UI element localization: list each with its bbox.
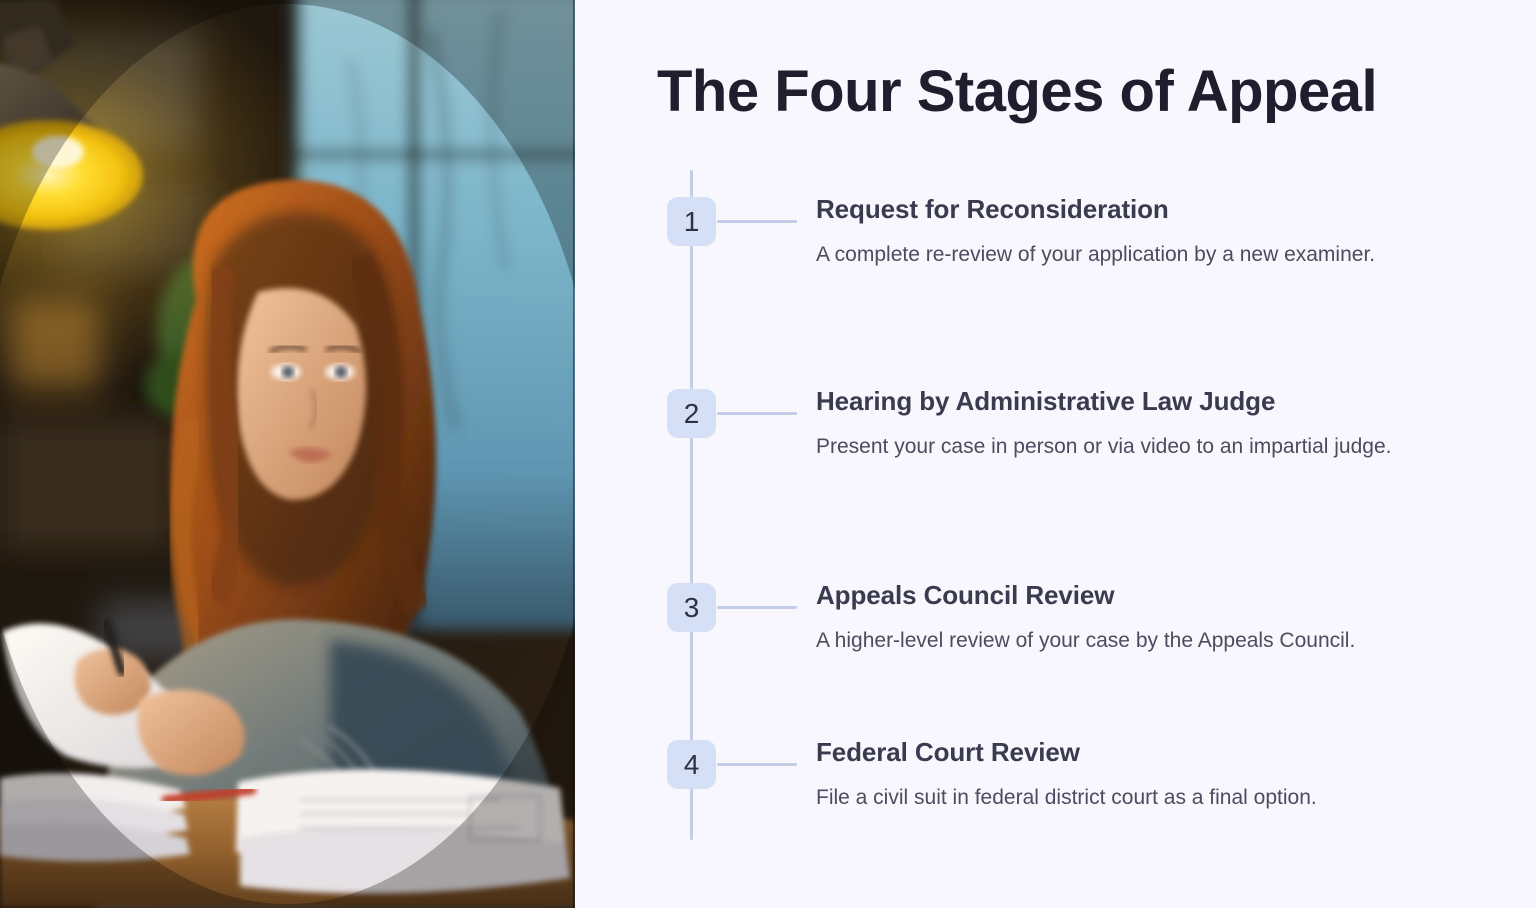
step-number-badge-2: 2 (667, 389, 716, 438)
step-number-badge-4: 4 (667, 740, 716, 789)
photo-panel (0, 0, 575, 908)
step-number-badge-3: 3 (667, 583, 716, 632)
step-title-2: Hearing by Administrative Law Judge (816, 386, 1506, 417)
step-connector-2 (717, 412, 797, 415)
step-content-1: Request for Reconsideration A complete r… (816, 194, 1506, 272)
step-description-4: File a civil suit in federal district co… (816, 781, 1506, 815)
step-connector-4 (717, 763, 797, 766)
step-content-4: Federal Court Review File a civil suit i… (816, 737, 1506, 815)
step-connector-3 (717, 606, 797, 609)
step-description-3: A higher-level review of your case by th… (816, 624, 1506, 658)
step-description-1: A complete re-review of your application… (816, 238, 1456, 272)
step-number-badge-1: 1 (667, 197, 716, 246)
desk-scene-photo (0, 0, 575, 908)
timeline: 1 Request for Reconsideration A complete… (575, 0, 1536, 908)
step-title-4: Federal Court Review (816, 737, 1506, 768)
step-content-2: Hearing by Administrative Law Judge Pres… (816, 386, 1506, 464)
step-content-3: Appeals Council Review A higher-level re… (816, 580, 1506, 658)
step-title-3: Appeals Council Review (816, 580, 1506, 611)
step-description-2: Present your case in person or via video… (816, 430, 1456, 464)
infographic-slide: The Four Stages of Appeal 1 Request for … (0, 0, 1536, 908)
step-connector-1 (717, 220, 797, 223)
step-title-1: Request for Reconsideration (816, 194, 1506, 225)
content-panel: The Four Stages of Appeal 1 Request for … (575, 0, 1536, 908)
